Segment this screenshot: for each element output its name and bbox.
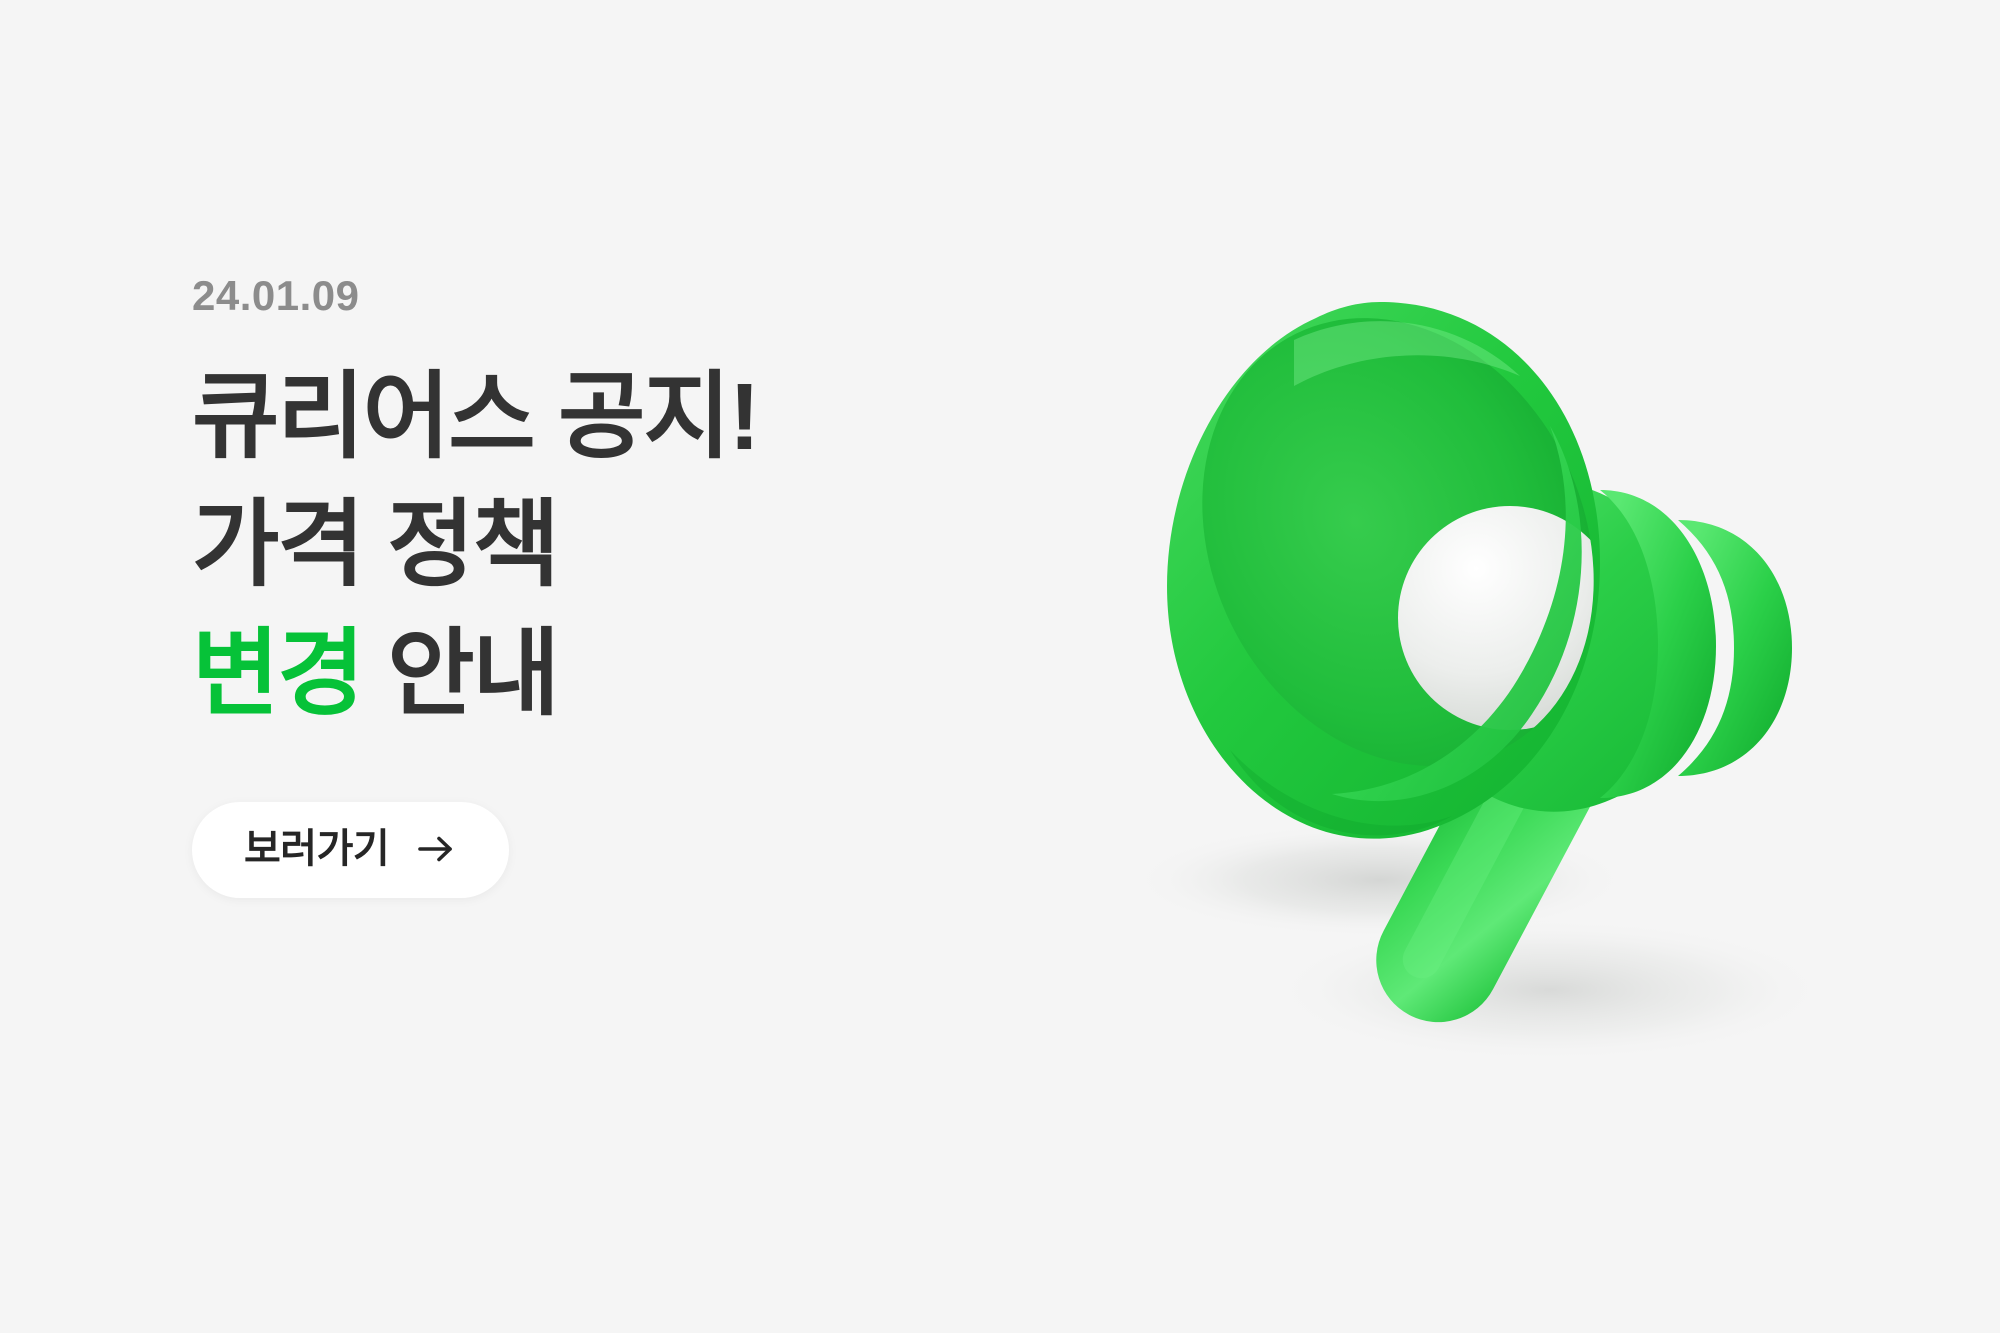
- view-more-button-label: 보러가기: [244, 829, 389, 869]
- headline-accent-word: 변경: [192, 621, 363, 727]
- headline-line-3-rest: 안내: [363, 621, 558, 727]
- headline-line-1: 큐리어스 공지!: [192, 353, 952, 481]
- page-title: 큐리어스 공지! 가격 정책 변경 안내: [192, 353, 952, 738]
- headline-line-3: 변경 안내: [192, 610, 952, 738]
- announcement-banner: 24.01.09 큐리어스 공지! 가격 정책 변경 안내 보러가기: [0, 0, 2000, 1333]
- banner-content: 24.01.09 큐리어스 공지! 가격 정책 변경 안내 보러가기: [192, 275, 952, 898]
- megaphone-3d-icon: [1080, 190, 1900, 1110]
- view-more-button[interactable]: 보러가기: [192, 802, 509, 898]
- headline-line-2: 가격 정책: [192, 481, 952, 609]
- publish-date: 24.01.09: [192, 275, 952, 317]
- arrow-right-icon: [415, 828, 457, 870]
